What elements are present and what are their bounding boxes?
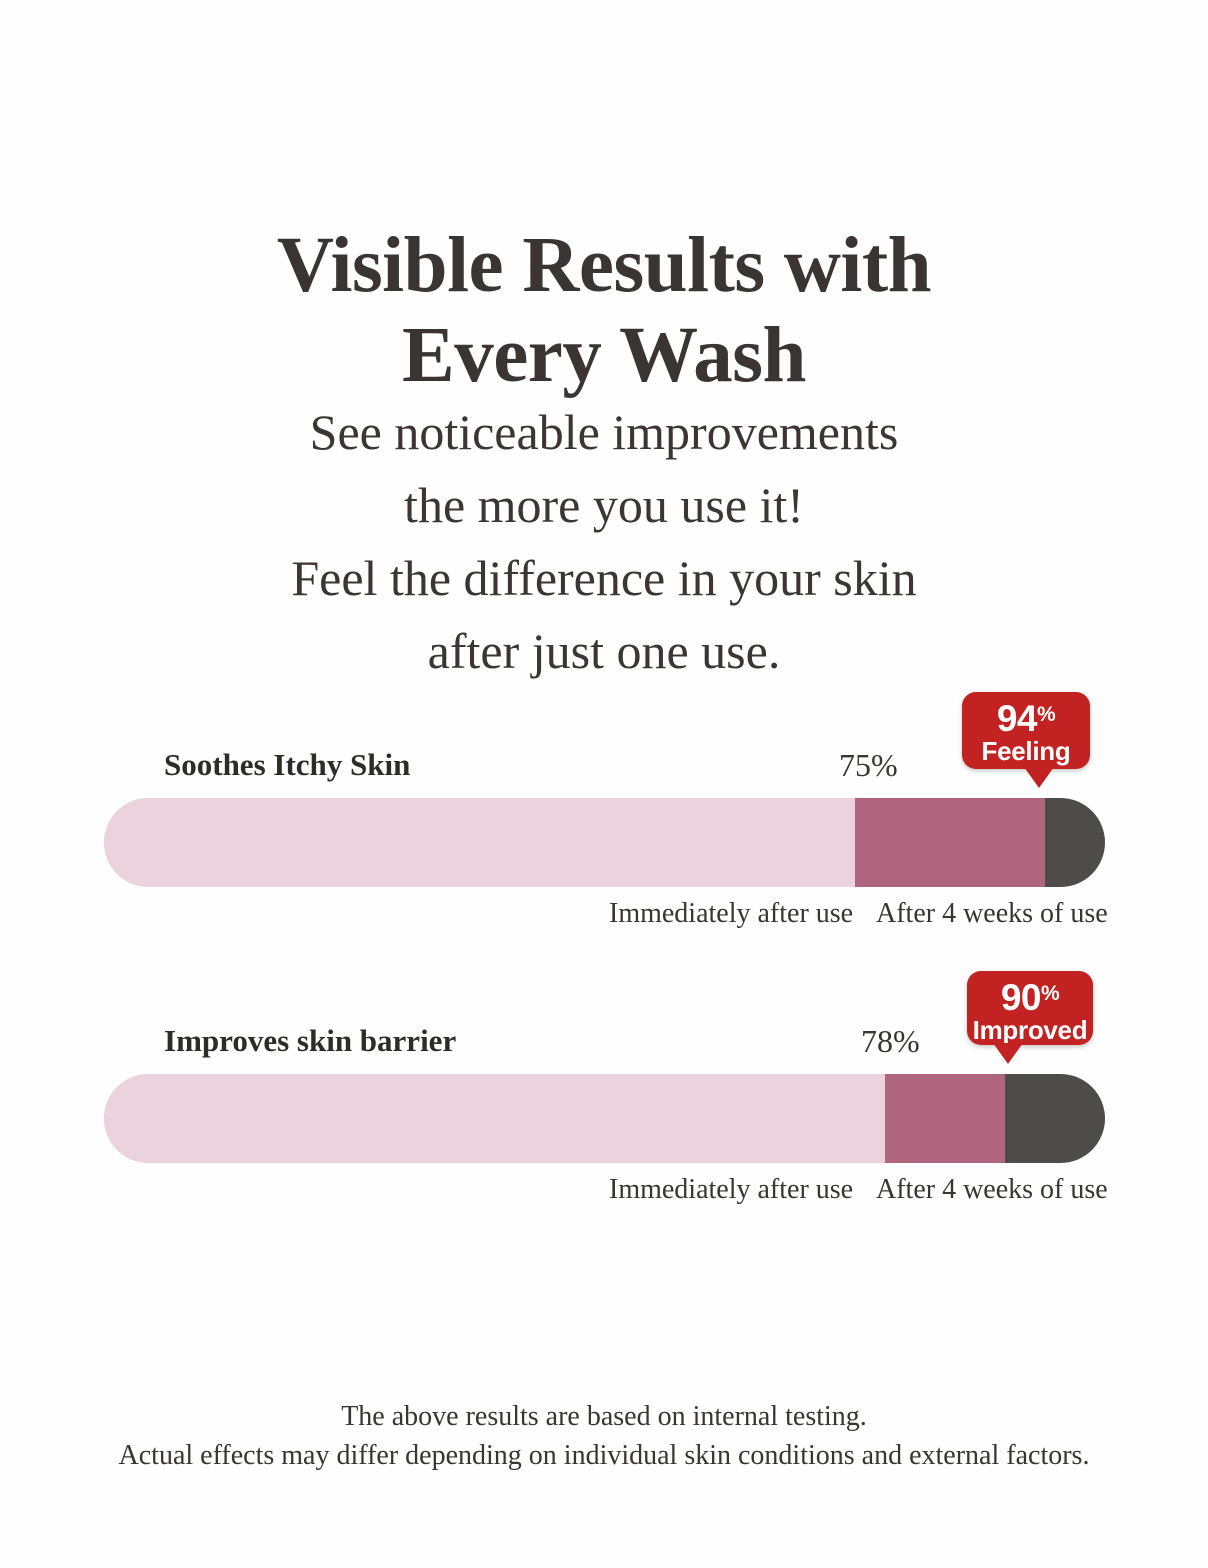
bar-segment-immediate: [104, 798, 855, 887]
caption-after-4-weeks: After 4 weeks of use: [876, 1171, 1108, 1209]
badge-percent-sign: %: [1037, 703, 1055, 726]
bar-label: Soothes Itchy Skin: [164, 742, 410, 788]
bar-percent-value: 78%: [861, 1018, 920, 1064]
badge-number-value: 90: [1001, 977, 1041, 1018]
badge-word: Feeling: [962, 738, 1090, 765]
bar-segment-after-4-weeks: [1045, 798, 1105, 887]
bar-captions: Immediately after use After 4 weeks of u…: [104, 895, 1105, 941]
bar-segment-after-4-weeks: [1005, 1074, 1105, 1163]
badge-number: 94%: [962, 692, 1090, 738]
bar-segment-mid: [885, 1074, 1005, 1163]
footer-line-2: Actual effects may differ depending on i…: [0, 1437, 1208, 1476]
bar-row-soothes-itchy-skin: Soothes Itchy Skin 75% Immediately after…: [104, 742, 1105, 941]
footer-disclaimer: The above results are based on internal …: [0, 1398, 1208, 1475]
bar-segment-mid: [855, 798, 1045, 887]
badge-percent-sign: %: [1041, 982, 1059, 1005]
bar-segment-immediate: [104, 1074, 885, 1163]
bar-percent-value: 75%: [839, 742, 898, 788]
footer-line-1: The above results are based on internal …: [0, 1398, 1208, 1437]
bar-header: Improves skin barrier 78%: [104, 1018, 1105, 1074]
badge-number: 90%: [967, 971, 1093, 1017]
badge-tail-icon: [1024, 767, 1054, 788]
badge-number-value: 94: [997, 698, 1037, 739]
results-chart: Soothes Itchy Skin 75% Immediately after…: [0, 0, 1208, 1568]
bar-header: Soothes Itchy Skin 75%: [104, 742, 1105, 798]
badge-tail-icon: [993, 1043, 1023, 1064]
infographic-page: Visible Results with Every Wash See noti…: [0, 0, 1208, 1568]
bar-captions: Immediately after use After 4 weeks of u…: [104, 1171, 1105, 1217]
bar-label: Improves skin barrier: [164, 1018, 456, 1064]
badge-word: Improved: [967, 1017, 1093, 1044]
badge-feeling: 94% Feeling: [962, 692, 1090, 769]
badge-improved: 90% Improved: [967, 971, 1093, 1045]
caption-immediately-after-use: Immediately after use: [609, 895, 853, 933]
caption-immediately-after-use: Immediately after use: [609, 1171, 853, 1209]
bar-track: [104, 1074, 1105, 1163]
bar-track: [104, 798, 1105, 887]
caption-after-4-weeks: After 4 weeks of use: [876, 895, 1108, 933]
bar-row-improves-skin-barrier: Improves skin barrier 78% Immediately af…: [104, 1018, 1105, 1217]
